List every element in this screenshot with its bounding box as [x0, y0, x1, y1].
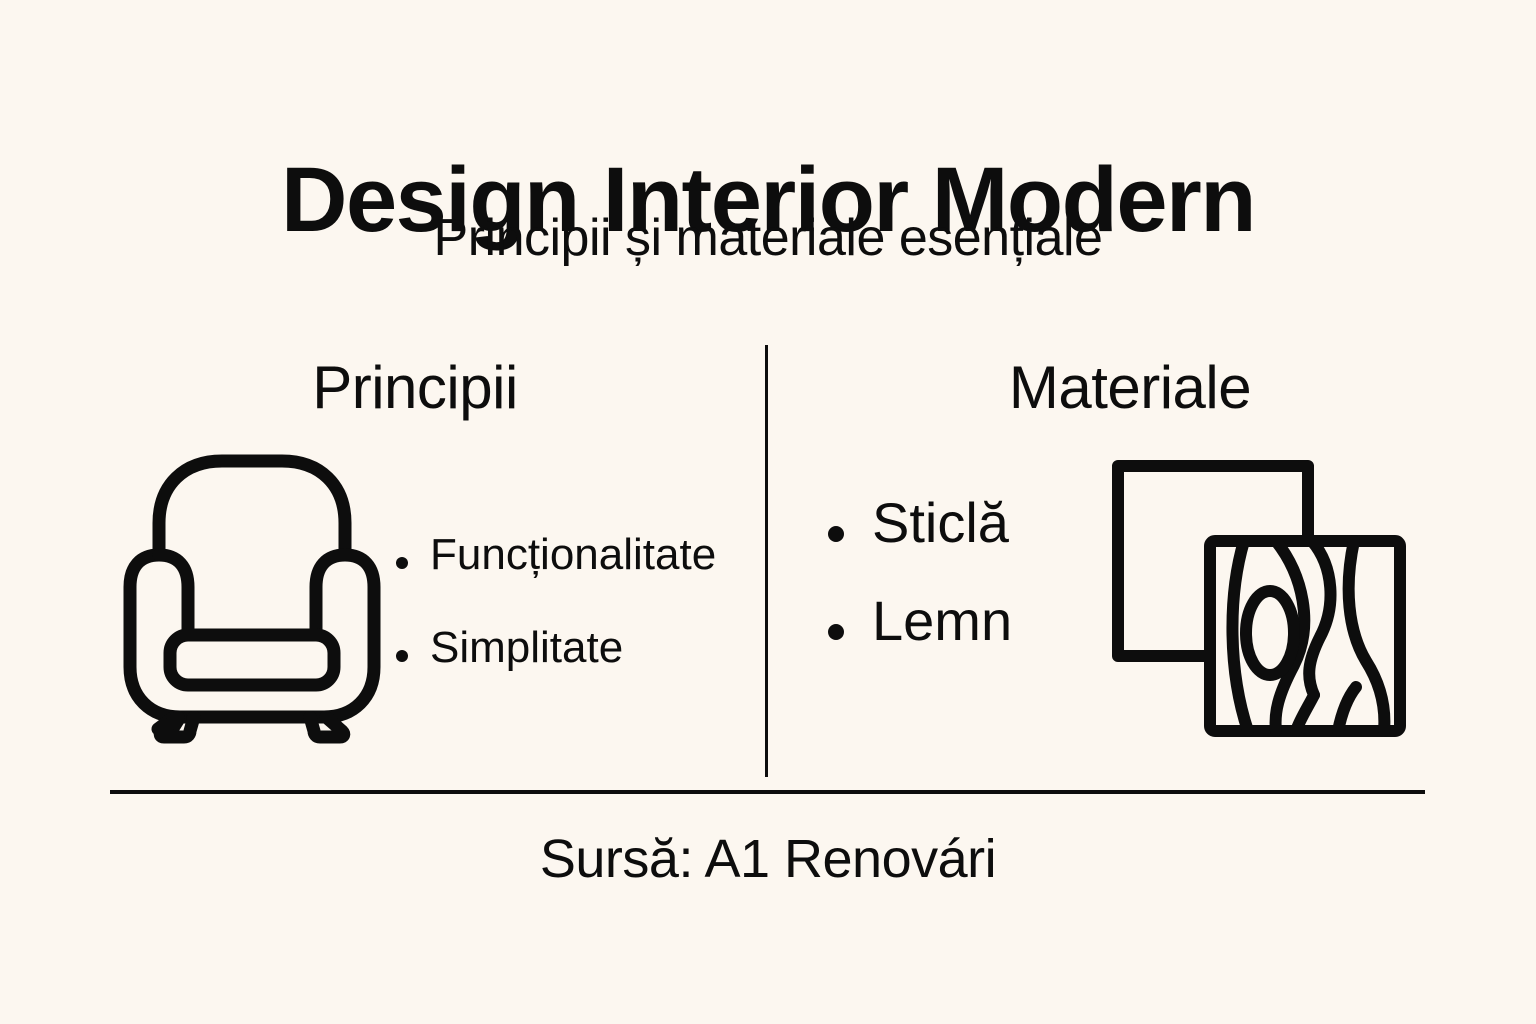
bullet-dot-icon: [396, 557, 408, 569]
armchair-icon: [118, 445, 386, 745]
infographic-poster: Design Interior Modern Principii și mate…: [0, 0, 1536, 1024]
list-item-label: Funcționalitate: [430, 533, 716, 577]
list-item: Lemn: [828, 593, 1012, 649]
section-heading-materiale: Materiale: [880, 358, 1380, 418]
list-item-label: Lemn: [872, 593, 1012, 649]
list-item: Sticlă: [828, 495, 1012, 551]
principii-list: Funcționalitate Simplitate: [396, 533, 716, 719]
footer-divider: [110, 790, 1425, 794]
list-item-label: Sticlă: [872, 495, 1009, 551]
glass-and-wood-icon: [1098, 455, 1408, 747]
bullet-dot-icon: [828, 624, 844, 640]
list-item: Simplitate: [396, 626, 716, 670]
list-item: Funcționalitate: [396, 533, 716, 577]
section-heading-principii: Principii: [165, 358, 665, 418]
page-subtitle: Principii și materiale esențiale: [0, 212, 1536, 264]
materiale-list: Sticlă Lemn: [828, 495, 1012, 691]
bullet-dot-icon: [396, 650, 408, 662]
bullet-dot-icon: [828, 526, 844, 542]
list-item-label: Simplitate: [430, 626, 623, 670]
source-credit: Sursă: A1 Renovári: [0, 832, 1536, 886]
column-divider: [765, 345, 768, 777]
